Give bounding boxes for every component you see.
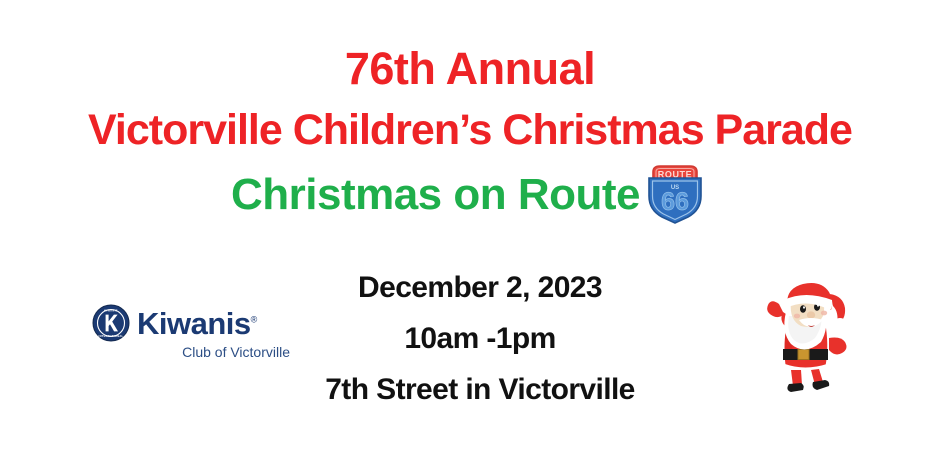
event-details: December 2, 2023 10am -1pm 7th Street in…: [270, 262, 690, 415]
route-66-shield-icon: ROUTE US 66: [641, 162, 709, 226]
title-line-route: Christmas on Route: [231, 166, 640, 224]
title-line-parade: Victorville Children’s Christmas Parade: [0, 102, 940, 158]
kiwanis-wordmark-text: Kiwanis: [137, 306, 251, 341]
svg-text:66: 66: [661, 188, 689, 216]
kiwanis-wordmark: Kiwanis®: [137, 307, 257, 340]
kiwanis-club-subtitle: Club of Victorville: [92, 343, 292, 361]
kiwanis-registered-mark: ®: [251, 314, 257, 324]
event-location: 7th Street in Victorville: [270, 364, 690, 415]
kiwanis-logo-top: KIWANIS INTERNATIONAL Kiwanis®: [92, 304, 292, 342]
kiwanis-logo: KIWANIS INTERNATIONAL Kiwanis® Club of V…: [92, 304, 292, 361]
kiwanis-seal-icon: KIWANIS INTERNATIONAL: [92, 304, 130, 342]
svg-text:INTERNATIONAL: INTERNATIONAL: [99, 334, 124, 338]
bottom-row: KIWANIS INTERNATIONAL Kiwanis® Club of V…: [0, 262, 940, 422]
title-line-annual: 76th Annual: [0, 42, 940, 96]
event-banner: 76th Annual Victorville Children’s Chris…: [0, 0, 940, 470]
santa-claus-icon: [753, 276, 863, 396]
event-time: 10am -1pm: [270, 313, 690, 364]
title-block: 76th Annual Victorville Children’s Chris…: [0, 42, 940, 228]
event-date: December 2, 2023: [270, 262, 690, 313]
title-line-route-row: Christmas on Route ROUTE US 66: [0, 162, 940, 228]
svg-text:KIWANIS: KIWANIS: [104, 309, 118, 313]
